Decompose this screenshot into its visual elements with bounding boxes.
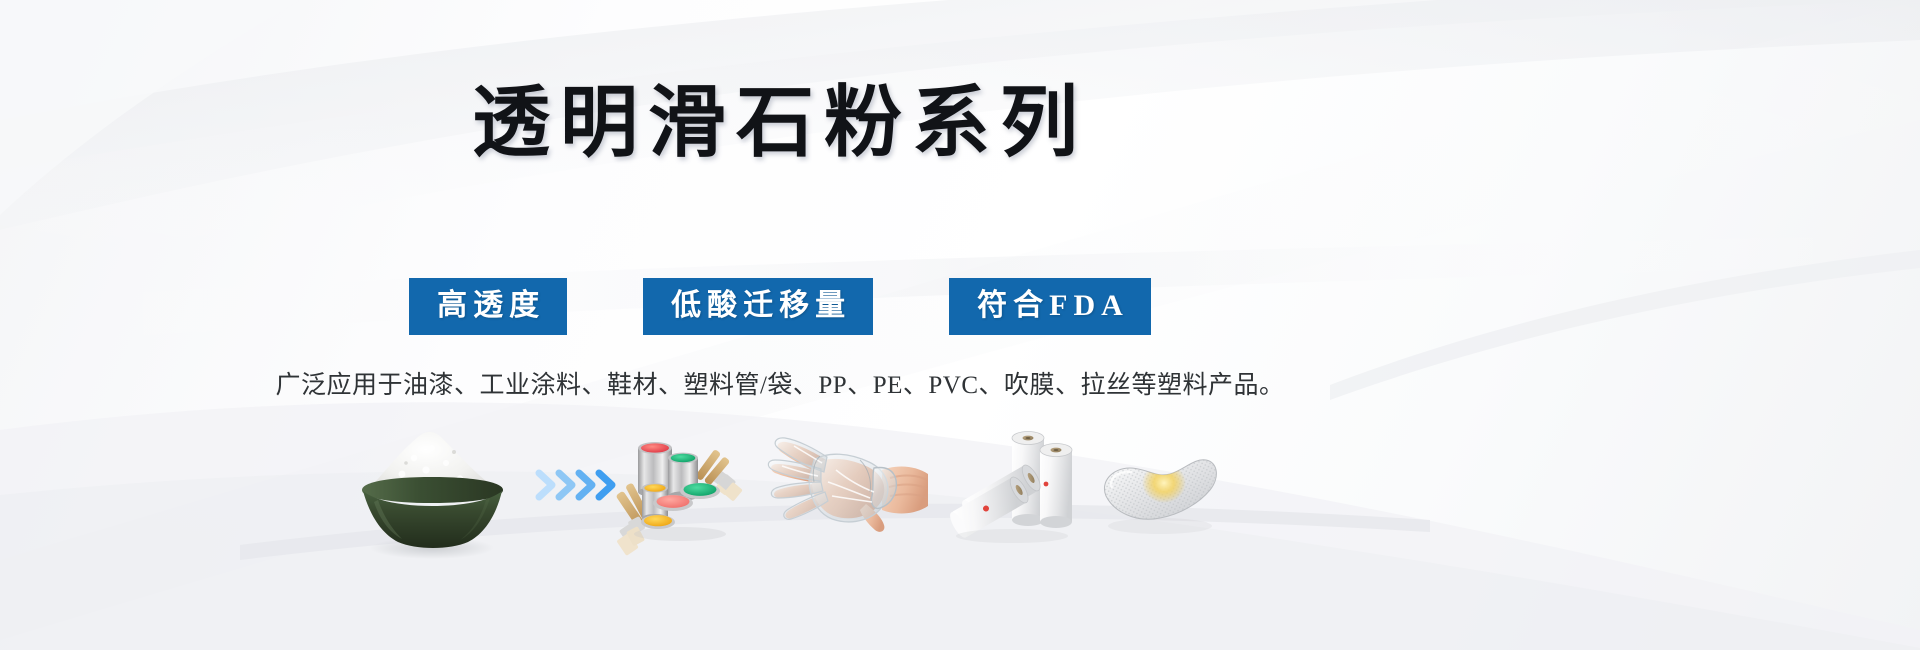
feature-badge-group: 高透度 低酸迁移量 符合FDA [0,278,1560,335]
page-title: 透明滑石粉系列 [0,84,1560,162]
talc-powder-bowl-image [340,430,525,555]
product-banner: 透明滑石粉系列 高透度 低酸迁移量 符合FDA 广泛应用于油漆、工业涂料、鞋材、… [0,0,1920,650]
film-roll-standing-2 [1040,444,1072,529]
paint-lid-pink [653,495,693,511]
process-arrows-icon [535,468,623,502]
paint-cans-image [620,430,755,560]
applications-subtitle: 广泛应用于油漆、工业涂料、鞋材、塑料管/袋、PP、PE、PVC、吹膜、拉丝等塑料… [0,371,1560,401]
banner-content: 透明滑石粉系列 高透度 低酸迁移量 符合FDA 广泛应用于油漆、工业涂料、鞋材、… [0,0,1920,650]
paint-lid-green [680,483,720,499]
plastic-film-rolls-image [940,430,1080,555]
badge-high-transparency[interactable]: 高透度 [409,278,567,335]
transparent-film-overlay [768,438,896,522]
product-image-strip [330,430,1230,610]
paint-lid-yellow [641,515,675,529]
badge-low-acid-migration[interactable]: 低酸迁移量 [643,278,873,335]
badge-fda-compliant[interactable]: 符合FDA [949,278,1151,335]
shoe-sole-image [1090,438,1220,548]
plastic-glove-hand-image [770,430,925,545]
